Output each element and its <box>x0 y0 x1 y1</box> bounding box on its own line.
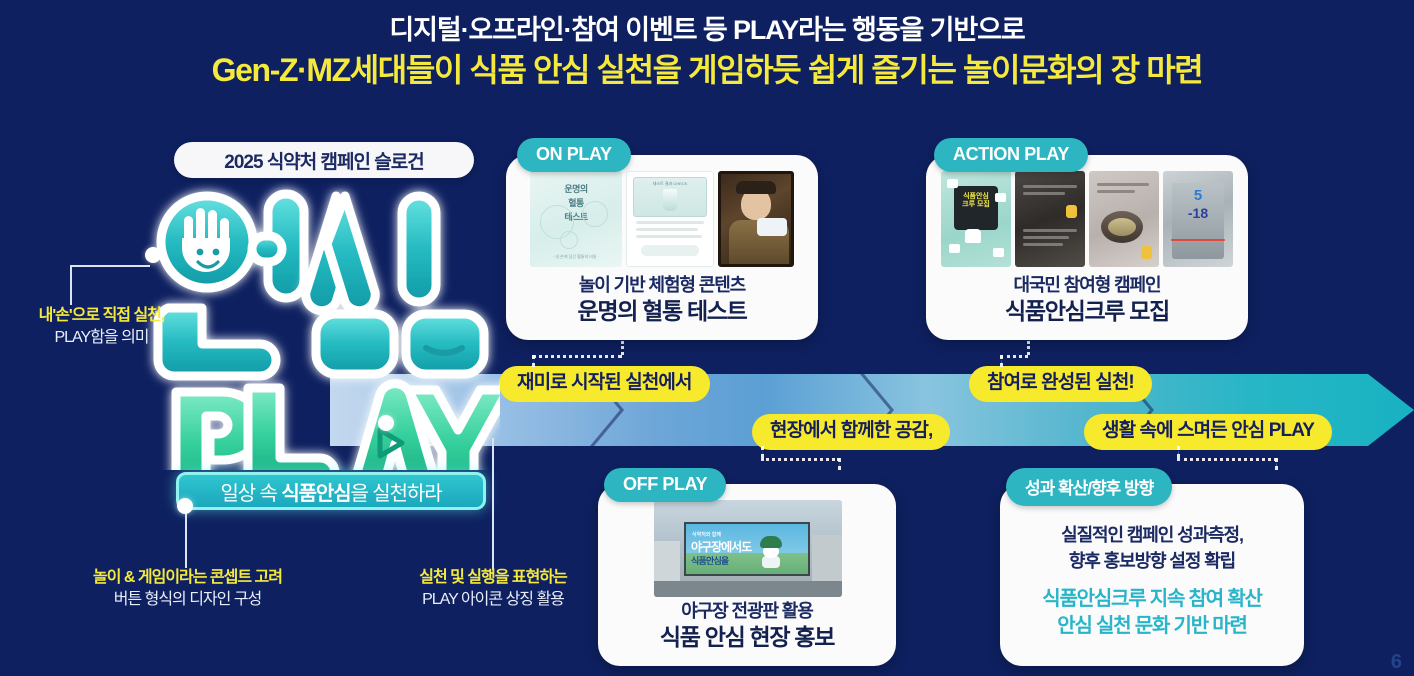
annotation-concept-title: 놀이 & 게임이라는 콘셉트 고려 <box>60 568 315 589</box>
action-play-caption-large: 식품안심크루 모집 <box>926 297 1248 326</box>
leader-line-left <box>70 255 162 305</box>
on-play-caption-large: 운명의 혈통 테스트 <box>506 297 818 326</box>
flow-label-1: 재미로 시작된 실천에서 <box>499 366 710 402</box>
annotation-concept-desc: 버튼 형식의 디자인 구성 <box>60 589 315 611</box>
connector-on-play <box>532 355 535 367</box>
off-play-caption-large: 식품 안심 현장 홍보 <box>598 623 896 652</box>
annotation-hand: 내'손'으로 직접 실천, PLAY함을 의미 <box>14 306 189 348</box>
leader-dot <box>145 247 161 263</box>
billboard-panel: 식약처와 함께 야구장에서도 식품안심을 <box>684 522 810 576</box>
on-play-thumbnails: 운명의혈통테스트 · 내 손에 담긴 혈통의 비밀 · 테스트 결과 CHECK <box>528 171 796 267</box>
results-highlight-1: 식품안심크루 지속 참여 확산 <box>1000 586 1304 613</box>
leader-line-bottom-left <box>185 510 189 568</box>
connector-results <box>1275 458 1278 470</box>
connector-on-play <box>621 341 624 355</box>
annotation-play-icon-desc: PLAY 아이콘 상징 활용 <box>368 589 618 611</box>
logo-slogan-text: 일상 속 식품안심을 실천하라 <box>221 477 442 506</box>
ansim-play-wordmark <box>140 180 500 470</box>
results-line-1: 실질적인 캠페인 성과측정, <box>1000 522 1304 548</box>
page-number: 6 <box>1391 651 1402 674</box>
slide-root: 디지털·오프라인·참여 이벤트 등 PLAY라는 행동을 기반으로 Gen-Z·… <box>0 0 1414 676</box>
flow-label-3: 참여로 완성된 실천! <box>969 366 1152 402</box>
connector-off-play <box>761 446 764 458</box>
badge-on-play: ON PLAY <box>517 138 631 172</box>
results-body: 실질적인 캠페인 성과측정, 향후 홍보방향 설정 확립 식품안심크루 지속 참… <box>1000 522 1304 640</box>
page-title: 디지털·오프라인·참여 이벤트 등 PLAY라는 행동을 기반으로 Gen-Z·… <box>0 14 1414 91</box>
logo-slogan-bar: 일상 속 식품안심을 실천하라 <box>176 472 486 510</box>
thumbnail-fortune-bloodline-test-cover: 운명의혈통테스트 · 내 손에 담긴 혈통의 비밀 · <box>530 171 622 267</box>
thumbnail-crew-recruit-poster: 식품안심크루 모집 <box>941 171 1011 267</box>
action-play-thumbnails: 식품안심크루 모집 5 -18 <box>938 171 1236 267</box>
connector-action-play <box>1000 355 1003 367</box>
thumbnail-classical-portrait <box>718 171 794 267</box>
card-action-play[interactable]: 식품안심크루 모집 5 -18 <box>926 155 1248 340</box>
on-play-caption: 놀이 기반 체험형 콘텐츠 운명의 혈통 테스트 <box>506 274 818 326</box>
card-results[interactable]: 실질적인 캠페인 성과측정, 향후 홍보방향 설정 확립 식품안심크루 지속 참… <box>1000 484 1304 666</box>
action-play-caption-small: 대국민 참여형 캠페인 <box>926 274 1248 297</box>
connector-results <box>1177 458 1277 461</box>
badge-action-play: ACTION PLAY <box>934 138 1088 172</box>
flow-label-2: 현장에서 함께한 공감, <box>752 414 950 450</box>
results-highlight-2: 안심 실천 문화 기반 마련 <box>1000 613 1304 640</box>
card-on-play[interactable]: 운명의혈통테스트 · 내 손에 담긴 혈통의 비밀 · 테스트 결과 CHECK… <box>506 155 818 340</box>
ansim-play-logo <box>140 180 500 470</box>
connector-action-play <box>1000 355 1028 358</box>
card-off-play[interactable]: 식약처와 함께 야구장에서도 식품안심을 야구장 전광판 활용 식품 안심 현장… <box>598 484 896 666</box>
results-line-2: 향후 홍보방향 설정 확립 <box>1000 548 1304 574</box>
headline-line-1: 디지털·오프라인·참여 이벤트 등 PLAY라는 행동을 기반으로 <box>0 14 1414 48</box>
annotation-hand-desc: PLAY함을 의미 <box>14 327 189 349</box>
leader-line-bottom-right <box>492 438 496 570</box>
on-play-caption-small: 놀이 기반 체험형 콘텐츠 <box>506 274 818 297</box>
off-play-caption-small: 야구장 전광판 활용 <box>598 600 896 623</box>
thumb-subtitle: · 내 손에 담긴 혈통의 비밀 · <box>530 254 622 260</box>
connector-action-play <box>1027 341 1030 355</box>
headline-line-2: Gen-Z·MZ세대들이 식품 안심 실천을 게임하듯 쉽게 즐기는 놀이문화의… <box>0 50 1414 92</box>
baseball-mascot-icon <box>760 536 782 568</box>
annotation-play-icon: 실천 및 실행을 표현하는 PLAY 아이콘 상징 활용 <box>368 568 618 610</box>
connector-off-play <box>838 458 841 470</box>
thumbnail-fridge-temperature-story: 5 -18 <box>1163 171 1233 267</box>
thumbnail-sns-story-dark <box>1015 171 1085 267</box>
action-play-caption: 대국민 참여형 캠페인 식품안심크루 모집 <box>926 274 1248 326</box>
connector-on-play <box>532 355 622 358</box>
thumbnail-cooking-pan-story <box>1089 171 1159 267</box>
leader-dot <box>177 498 193 514</box>
thumbnail-test-result-page: 테스트 결과 CHECK <box>626 171 714 267</box>
campaign-slogan-badge: 2025 식약처 캠페인 슬로건 <box>174 142 474 178</box>
annotation-play-icon-title: 실천 및 실행을 표현하는 <box>368 568 618 589</box>
leader-dot <box>378 415 394 431</box>
connector-results <box>1177 446 1180 458</box>
badge-off-play: OFF PLAY <box>604 468 726 502</box>
annotation-concept: 놀이 & 게임이라는 콘셉트 고려 버튼 형식의 디자인 구성 <box>60 568 315 610</box>
badge-results: 성과 확산/향후 방향 <box>1006 468 1172 506</box>
flow-label-4: 생활 속에 스며든 안심 PLAY <box>1084 414 1332 450</box>
annotation-hand-title: 내'손'으로 직접 실천, <box>14 306 189 327</box>
off-play-caption: 야구장 전광판 활용 식품 안심 현장 홍보 <box>598 600 896 652</box>
campaign-slogan-badge-label: 2025 식약처 캠페인 슬로건 <box>224 147 423 174</box>
thumbnail-stadium-billboard: 식약처와 함께 야구장에서도 식품안심을 <box>654 500 842 597</box>
connector-off-play <box>761 458 840 461</box>
